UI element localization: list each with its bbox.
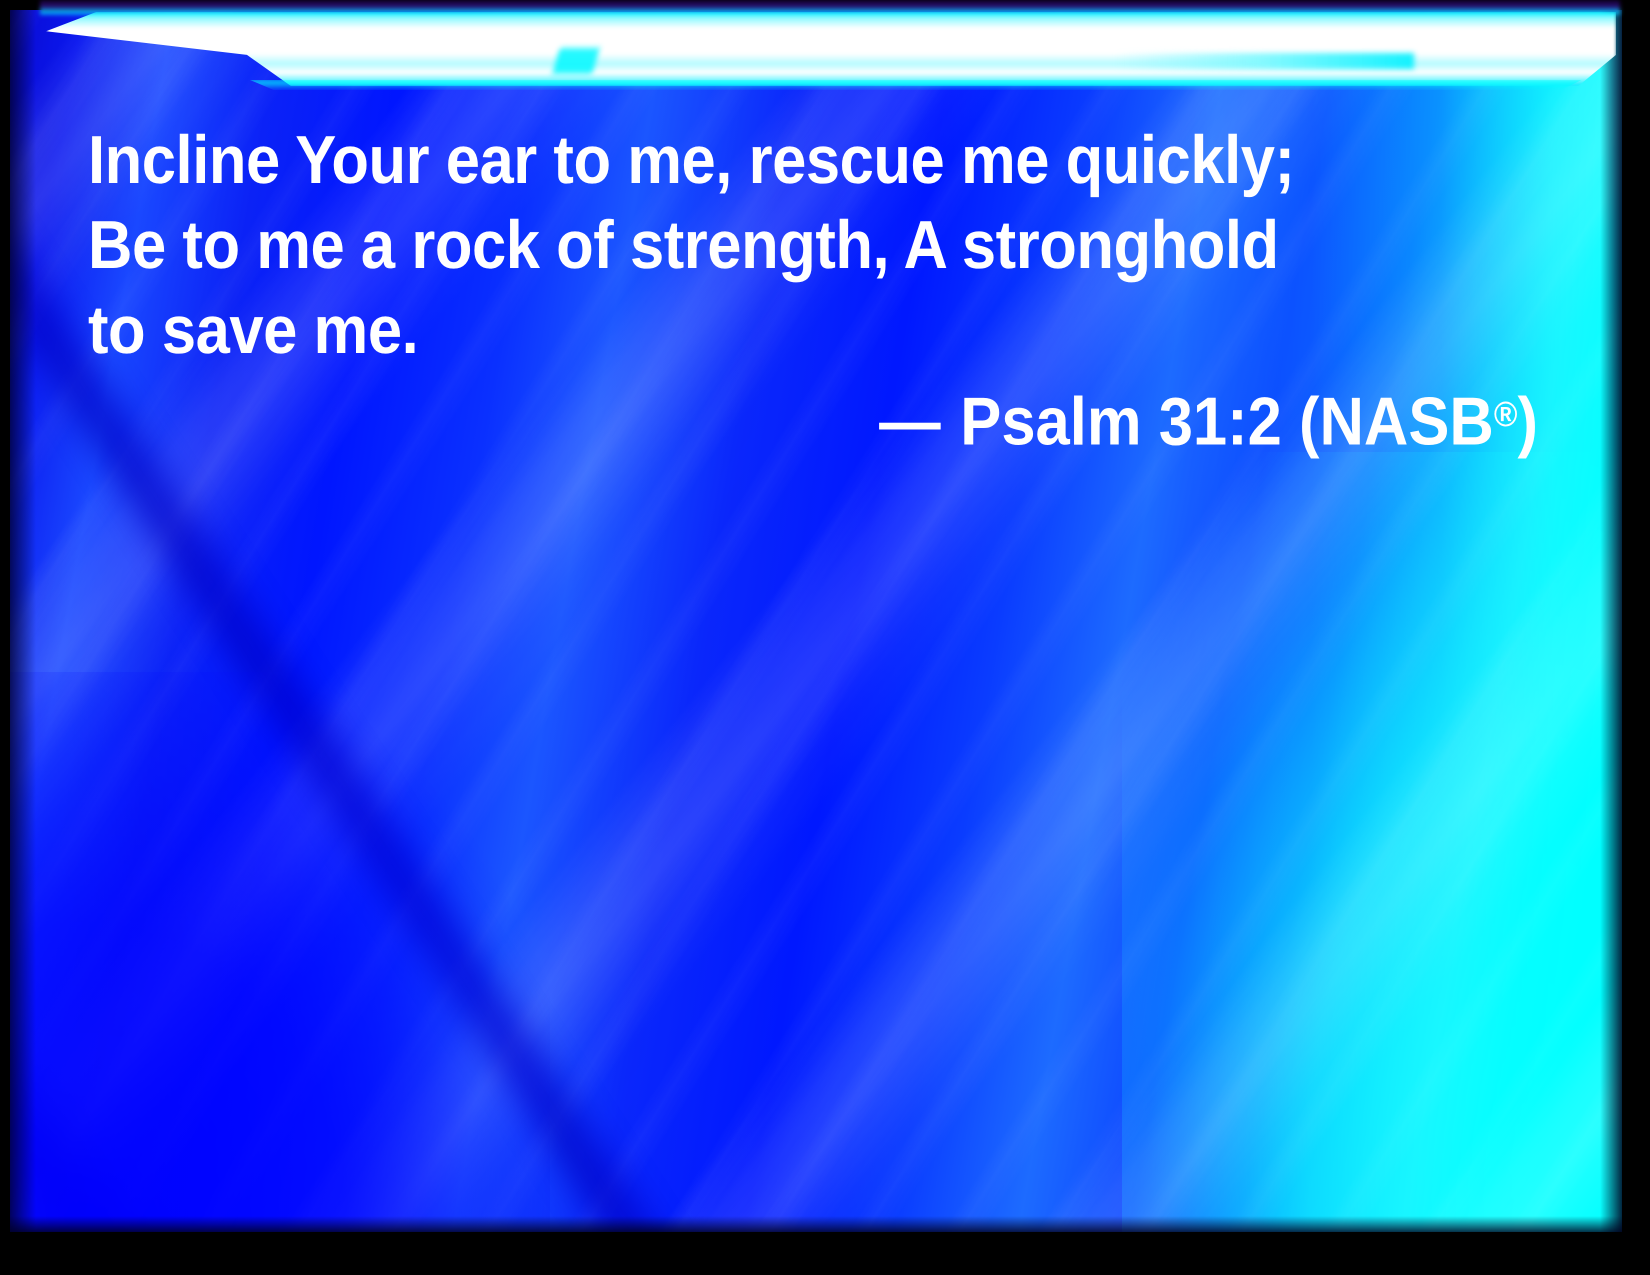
verse-reference: — Psalm 31:2 (NASB®) [88,372,1538,464]
reference-translation: NASB [1320,383,1494,459]
reference-citation: Psalm 31:2 [960,383,1282,459]
verse-reference-inner: — Psalm 31:2 (NASB®) [879,372,1538,464]
verse-line-1: Incline Your ear to me, rescue me quickl… [88,118,1400,203]
slide-frame: Incline Your ear to me, rescue me quickl… [0,0,1650,1275]
background-cyan-bottom-right-glow [1122,452,1622,1232]
verse-line-2: Be to me a rock of strength, A stronghol… [88,203,1400,288]
background-blue-bottom-left-wash [10,672,550,1232]
registered-trademark-icon: ® [1494,395,1518,434]
verse-line-3: to save me. [88,288,1400,373]
reference-em-dash: — [879,383,943,459]
reference-close-paren: ) [1517,383,1538,459]
reference-open-paren: ( [1299,383,1320,459]
verse-text-block: Incline Your ear to me, rescue me quickl… [88,118,1538,373]
